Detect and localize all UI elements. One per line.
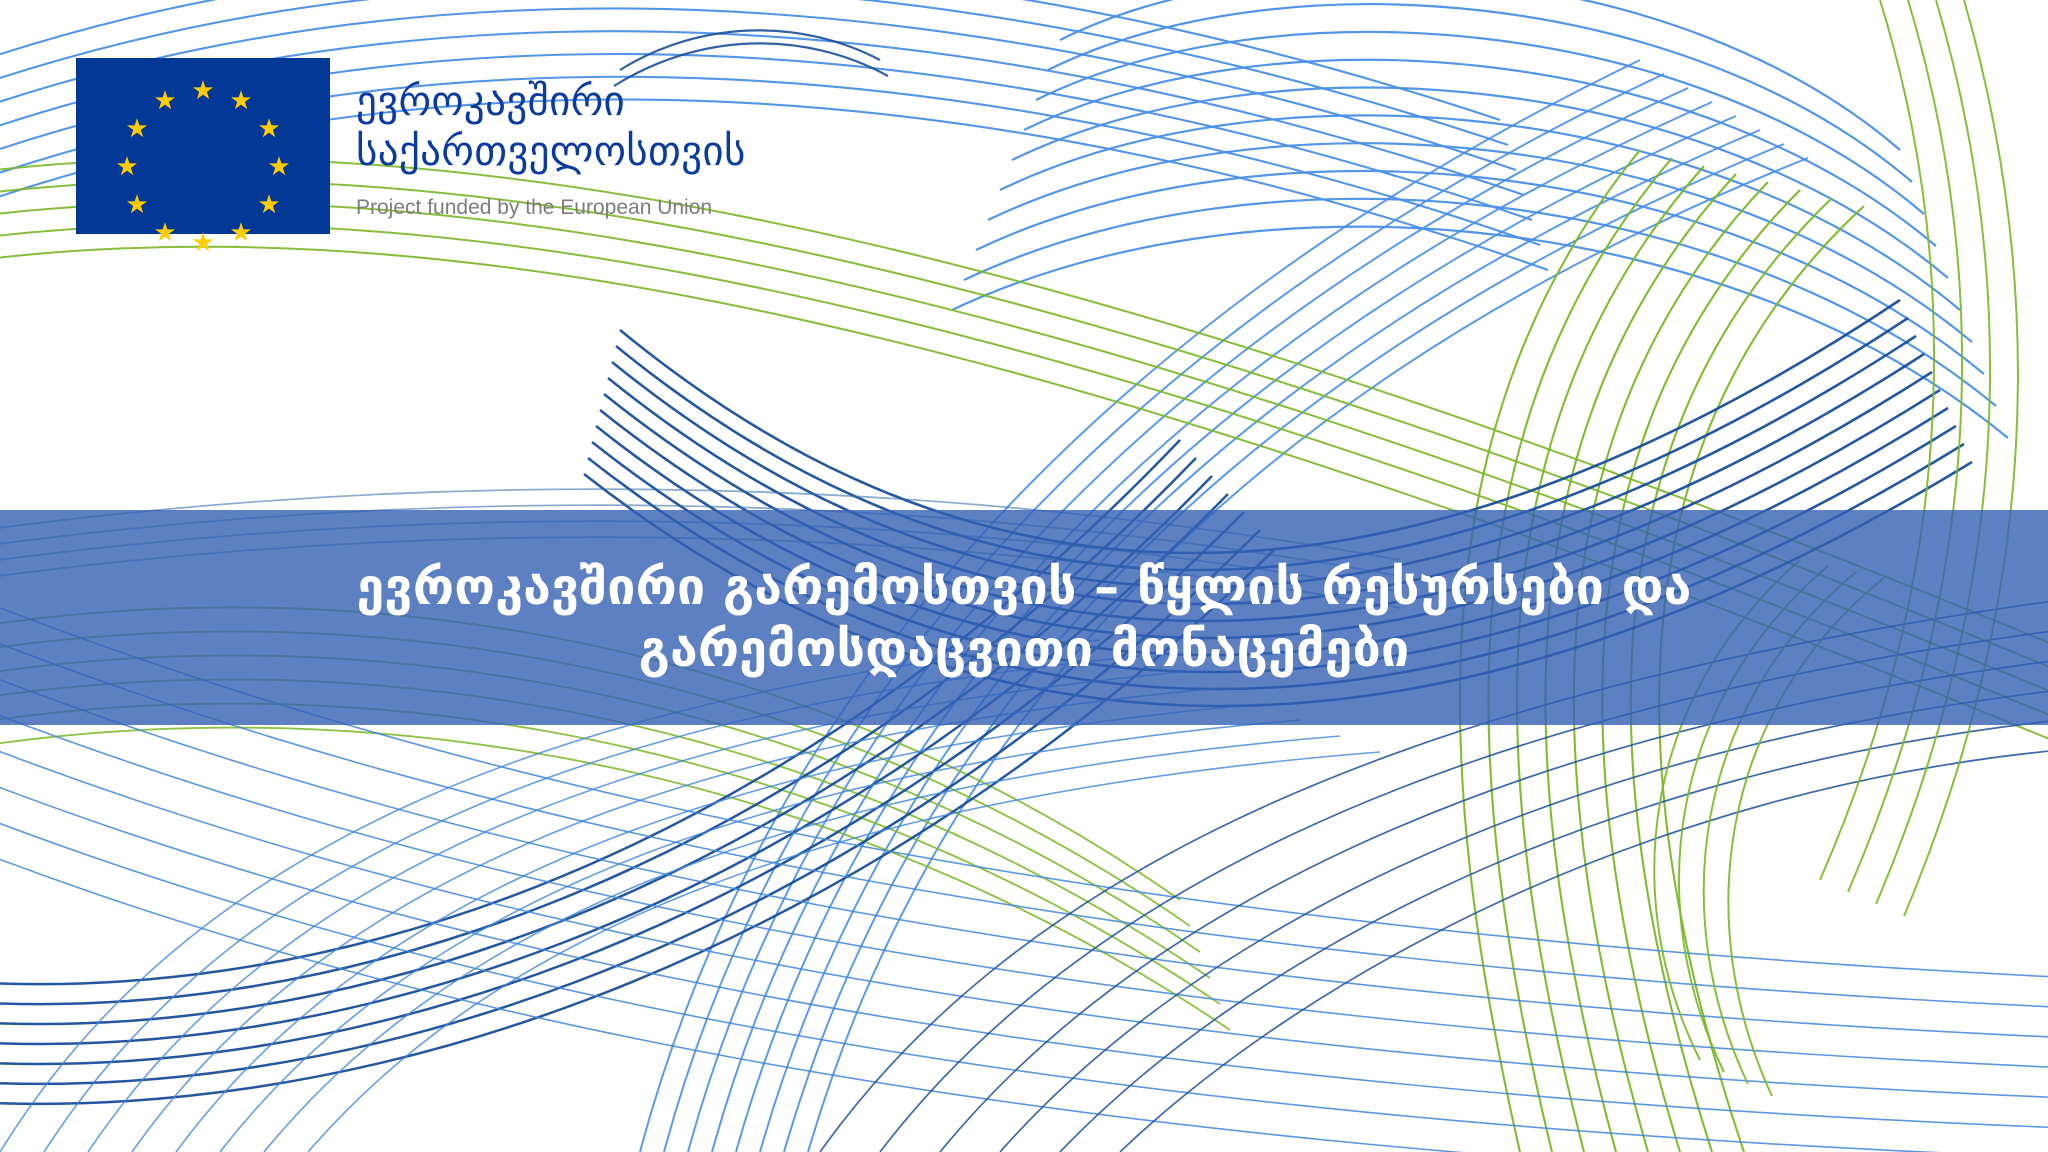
eu-star-icon: ★ <box>228 88 254 114</box>
eu-star-icon: ★ <box>152 220 178 246</box>
page-title-line-2: გარემოსდაცვითი მონაცემები <box>357 618 1692 680</box>
eu-star-icon: ★ <box>114 154 140 180</box>
eu-star-icon: ★ <box>124 116 150 142</box>
eu-star-icon: ★ <box>190 78 216 104</box>
eu-logo-subtitle: Project funded by the European Union <box>356 196 746 220</box>
eu-star-icon: ★ <box>256 192 282 218</box>
page-title: ევროკავშირი გარემოსთვის – წყლის რესურსებ… <box>267 556 1782 680</box>
partner-logo-bar: umweltbundesamtu ENVIRONMENT AGENCY AUST… <box>0 1040 2048 1152</box>
eu-logo-line-1: ევროკავშირი <box>356 76 746 126</box>
eu-star-icon: ★ <box>190 230 216 256</box>
eu-star-icon: ★ <box>124 192 150 218</box>
page-title-line-1: ევროკავშირი გარემოსთვის – წყლის რესურსებ… <box>357 556 1692 618</box>
slide-canvas: ★ ★ ★ ★ ★ ★ ★ ★ ★ ★ ★ ★ ევროკავშირი საქა… <box>0 0 2048 1152</box>
title-banner: ევროკავშირი გარემოსთვის – წყლის რესურსებ… <box>0 510 2048 725</box>
european-union-flag-icon: ★ ★ ★ ★ ★ ★ ★ ★ ★ ★ ★ ★ <box>76 58 330 234</box>
eu-logo-wordmark: ევროკავშირი საქართველოსთვის Project fund… <box>356 58 746 220</box>
eu-star-icon: ★ <box>266 154 292 180</box>
eu-star-icon: ★ <box>256 116 282 142</box>
eu-funding-logo: ★ ★ ★ ★ ★ ★ ★ ★ ★ ★ ★ ★ ევროკავშირი საქა… <box>76 58 746 234</box>
eu-star-icon: ★ <box>152 88 178 114</box>
eu-logo-line-2: საქართველოსთვის <box>356 126 746 176</box>
eu-star-icon: ★ <box>228 220 254 246</box>
